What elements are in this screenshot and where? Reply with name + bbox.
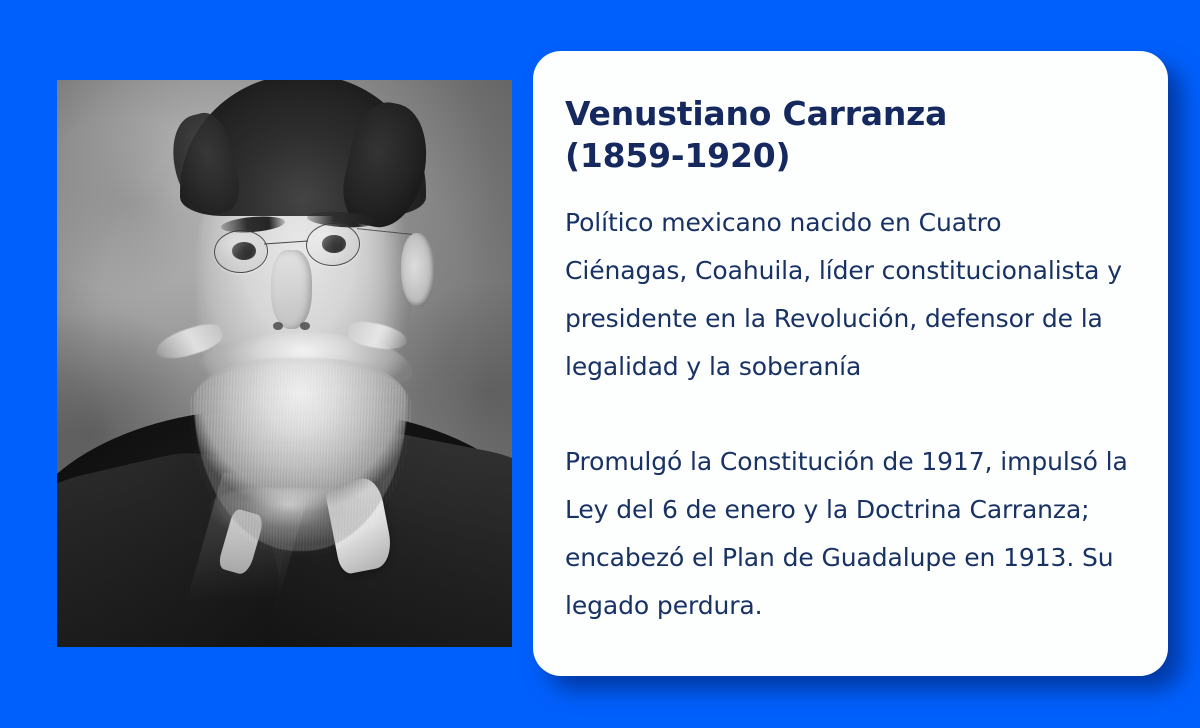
page-title: Venustiano Carranza (1859-1920) (565, 93, 1128, 177)
slide-canvas: Venustiano Carranza (1859-1920) Político… (0, 0, 1200, 728)
portrait-image (57, 80, 512, 647)
photo-vignette (57, 80, 512, 647)
biography-paragraph-1: Político mexicano nacido en Cuatro Ciéna… (565, 199, 1128, 391)
biography-card: Venustiano Carranza (1859-1920) Político… (533, 51, 1168, 676)
title-line-years: (1859-1920) (565, 135, 1128, 177)
title-line-name: Venustiano Carranza (565, 93, 1128, 135)
biography-paragraph-2: Promulgó la Constitución de 1917, impuls… (565, 438, 1128, 630)
portrait-photo-frame (57, 80, 512, 647)
